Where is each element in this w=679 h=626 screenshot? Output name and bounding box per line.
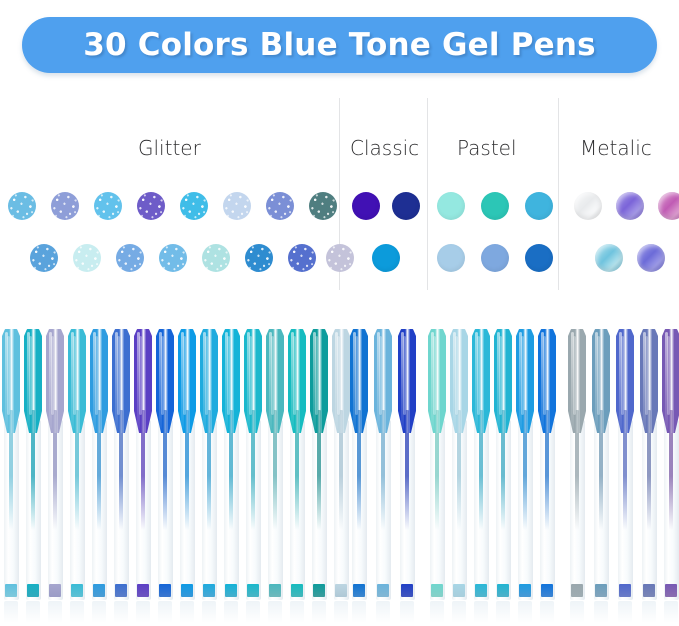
pen-classic [374,300,392,626]
pen-metalic [640,300,658,626]
pen-cap [266,328,284,433]
pen-cap [516,328,534,433]
pen-reflection [246,601,260,623]
pen-cap [374,328,392,433]
pen-reflection [618,601,632,623]
pen-reflection [312,601,326,623]
pen-glitter [288,300,306,626]
pen-glitter [2,300,20,626]
color-dot-metalic [595,244,623,272]
product-image: 30 Colors Blue Tone Gel Pens GlitterClas… [0,0,679,626]
pen-reflection [136,601,150,623]
pen-tip-band [519,584,531,597]
pen-reflection [92,601,106,623]
pen-reflection [334,601,348,623]
pen-glitter [222,300,240,626]
pen-cap [244,328,262,433]
color-dot-pastel [437,192,465,220]
pen-tip-band [247,584,259,597]
pen-tip-band [497,584,509,597]
pen-clip [139,336,142,415]
pen-tip-band [377,584,389,597]
pen-glitter [112,300,130,626]
pen-glitter [134,300,152,626]
pen-tip-band [619,584,631,597]
pen-clip [573,336,576,415]
pen-tip-band [335,584,347,597]
pen-pastel [450,300,468,626]
pen-reflection [430,601,444,623]
pen-clip [293,336,296,415]
color-dot-glitter [326,244,354,272]
pen-cap [112,328,130,433]
pen-cap [450,328,468,433]
pen-tip-band [49,584,61,597]
pen-reflection [70,601,84,623]
pen-tip-band [475,584,487,597]
pen-cap [350,328,368,433]
color-dot-metalic [616,192,644,220]
pen-tip-band [541,584,553,597]
pen-metalic [662,300,679,626]
pen-glitter [244,300,262,626]
pen-tip-band [643,584,655,597]
pen-glitter [310,300,328,626]
pen-tip-band [665,584,677,597]
pen-tip-band [291,584,303,597]
page-title: 30 Colors Blue Tone Gel Pens [83,27,596,63]
color-dot-glitter [202,244,230,272]
pen-clip [271,336,274,415]
pen-cap [200,328,218,433]
pen-classic [350,300,368,626]
pen-tip-band [115,584,127,597]
pen-lineup [0,300,679,626]
color-dot-glitter [159,244,187,272]
pen-cap [640,328,658,433]
divider-classic [427,98,428,290]
pen-clip [73,336,76,415]
pen-tip-band [181,584,193,597]
color-dot-glitter [245,244,273,272]
pen-reflection [290,601,304,623]
pen-clip [355,336,358,415]
pen-clip [433,336,436,415]
pen-clip [7,336,10,415]
pen-cap [592,328,610,433]
pen-reflection [26,601,40,623]
pen-cap [288,328,306,433]
pen-cap [156,328,174,433]
pen-reflection [452,601,466,623]
pen-classic [398,300,416,626]
pen-reflection [4,601,18,623]
pen-clip [455,336,458,415]
color-dot-pastel [437,244,465,272]
pen-cap [310,328,328,433]
pen-cap [472,328,490,433]
pen-cap [538,328,556,433]
color-dot-pastel [481,244,509,272]
pen-clip [337,336,340,415]
pen-tip-band [431,584,443,597]
pen-reflection [664,601,678,623]
color-dot-metalic [658,192,679,220]
pen-tip-band [203,584,215,597]
pen-clip [597,336,600,415]
pen-clip [521,336,524,415]
color-dot-pastel [525,192,553,220]
pen-tip-band [313,584,325,597]
pen-cap [24,328,42,433]
pen-reflection [474,601,488,623]
pen-tip-band [5,584,17,597]
color-dot-classic [372,244,400,272]
pen-reflection [400,601,414,623]
pen-clip [645,336,648,415]
pen-reflection [158,601,172,623]
color-dot-glitter [73,244,101,272]
pen-cap [428,328,446,433]
pen-glitter [90,300,108,626]
pen-cap [332,328,350,433]
pen-tip-band [27,584,39,597]
pen-reflection [352,601,366,623]
pen-reflection [114,601,128,623]
pen-tip-band [269,584,281,597]
color-dot-glitter [180,192,208,220]
pen-cap [616,328,634,433]
pen-cap [134,328,152,433]
pen-clip [621,336,624,415]
color-dot-glitter [223,192,251,220]
pen-reflection [518,601,532,623]
title-banner: 30 Colors Blue Tone Gel Pens [22,17,657,73]
color-swatch-panel: GlitterClassicPastelMetalic [0,98,679,298]
pen-tip-band [353,584,365,597]
pen-clip [51,336,54,415]
pen-glitter [332,300,350,626]
pen-reflection [496,601,510,623]
pen-metalic [616,300,634,626]
pen-cap [662,328,679,433]
pen-tip-band [137,584,149,597]
pen-clip [403,336,406,415]
pen-pastel [538,300,556,626]
color-dot-glitter [8,192,36,220]
pen-clip [499,336,502,415]
pen-glitter [156,300,174,626]
color-dot-classic [352,192,380,220]
pen-pastel [516,300,534,626]
pen-clip [95,336,98,415]
color-dot-glitter [51,192,79,220]
pen-clip [227,336,230,415]
category-label-pastel: Pastel [457,136,517,160]
pen-glitter [68,300,86,626]
pen-metalic [568,300,586,626]
pen-pastel [494,300,512,626]
category-label-metalic: Metalic [580,136,652,160]
color-dot-classic [392,192,420,220]
pen-clip [315,336,318,415]
pen-tip-band [571,584,583,597]
color-dot-glitter [266,192,294,220]
pen-reflection [224,601,238,623]
color-dot-glitter [137,192,165,220]
pen-clip [29,336,32,415]
pen-clip [379,336,382,415]
pen-clip [117,336,120,415]
color-dot-metalic [574,192,602,220]
pen-clip [205,336,208,415]
pen-glitter [46,300,64,626]
color-dot-pastel [525,244,553,272]
pen-tip-band [225,584,237,597]
pen-tip-band [93,584,105,597]
pen-reflection [180,601,194,623]
pen-tip-band [595,584,607,597]
color-dot-pastel [481,192,509,220]
category-label-glitter: Glitter [138,136,201,160]
pen-reflection [540,601,554,623]
pen-tip-band [401,584,413,597]
pen-reflection [268,601,282,623]
pen-cap [398,328,416,433]
pen-clip [249,336,252,415]
pen-glitter [200,300,218,626]
color-dot-glitter [94,192,122,220]
color-dot-glitter [116,244,144,272]
pen-cap [178,328,196,433]
pen-cap [568,328,586,433]
pen-glitter [24,300,42,626]
pen-clip [477,336,480,415]
color-dot-metalic [637,244,665,272]
pen-reflection [202,601,216,623]
pen-cap [46,328,64,433]
color-dot-glitter [309,192,337,220]
pen-cap [222,328,240,433]
pen-clip [543,336,546,415]
pen-cap [494,328,512,433]
pen-reflection [376,601,390,623]
pen-clip [667,336,670,415]
pen-tip-band [71,584,83,597]
pen-tip-band [159,584,171,597]
pen-reflection [594,601,608,623]
pen-reflection [570,601,584,623]
pen-pastel [428,300,446,626]
pen-pastel [472,300,490,626]
pen-clip [183,336,186,415]
pen-cap [68,328,86,433]
pen-reflection [48,601,62,623]
pen-cap [90,328,108,433]
divider-pastel [558,98,559,290]
pen-glitter [266,300,284,626]
category-label-classic: Classic [350,136,419,160]
color-dot-glitter [30,244,58,272]
pen-reflection [642,601,656,623]
pen-clip [161,336,164,415]
pen-cap [2,328,20,433]
color-dot-glitter [288,244,316,272]
pen-metalic [592,300,610,626]
pen-tip-band [453,584,465,597]
pen-glitter [178,300,196,626]
